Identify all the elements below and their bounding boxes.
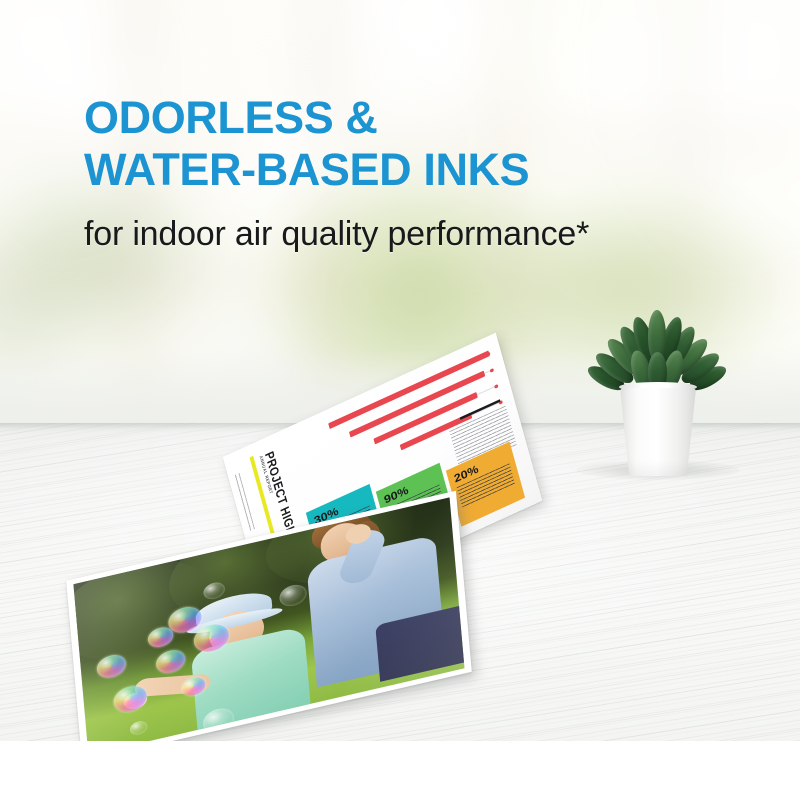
- marketing-banner: ANNUAL REPORT PROJECT HIGHLIGHTS: [0, 0, 800, 800]
- bokeh-highlight: [560, 20, 680, 130]
- footnote-band: * Up to A3+ page size HP printing system…: [0, 741, 800, 800]
- window-transom: [0, 270, 790, 288]
- brochure-side-text: [234, 473, 255, 531]
- soap-bubble: [155, 647, 186, 675]
- printed-photo: [70, 556, 520, 746]
- page-headline: ODORLESS & WATER-BASED INKS: [84, 92, 529, 196]
- plant-pot: [620, 388, 696, 476]
- soap-bubble: [113, 683, 148, 715]
- potted-plant: [592, 306, 724, 476]
- page-subheadline: for indoor air quality performance*: [84, 214, 589, 254]
- soap-bubble: [129, 719, 148, 736]
